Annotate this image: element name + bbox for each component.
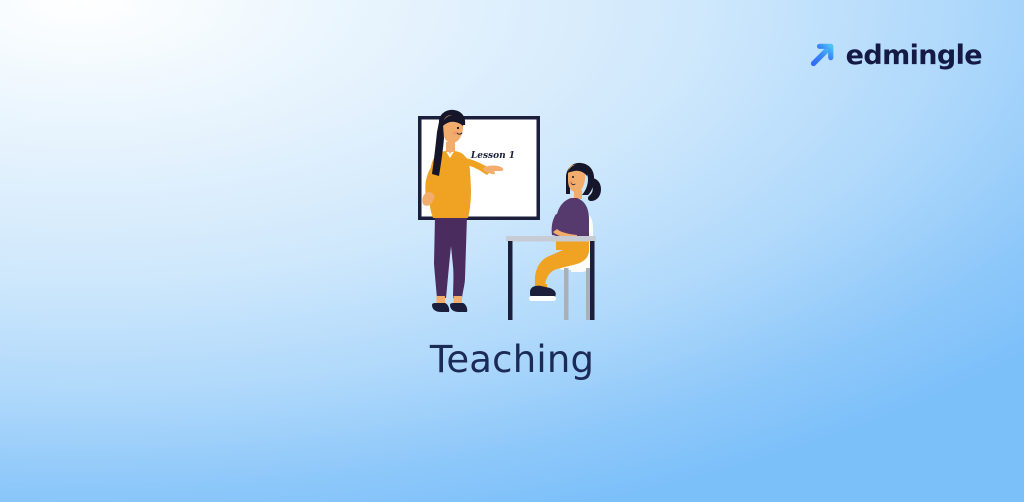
edmingle-logo[interactable]: edmingle [807, 40, 982, 70]
chair-leg-back [586, 268, 591, 320]
illustration-canvas: Lesson 1 [405, 108, 635, 333]
student-pants [535, 239, 589, 285]
student-shoe-sole [529, 296, 556, 301]
desk-leg-right [590, 241, 595, 320]
student-eye [572, 176, 574, 178]
teacher-shoe-right [450, 303, 467, 312]
teacher-eye [457, 127, 459, 129]
page-title: Teaching [0, 340, 1024, 381]
teacher-pants [434, 216, 467, 298]
teacher-shoe-left [432, 303, 449, 312]
teaching-banner: edmingle Lesson 1 [0, 0, 1024, 502]
student-blush [569, 181, 573, 184]
teacher-blush [453, 131, 458, 134]
desk-leg-left [508, 241, 513, 320]
chair-leg-front [564, 268, 569, 320]
arrow-up-right-icon [807, 40, 837, 70]
teaching-illustration: Lesson 1 [405, 108, 635, 333]
whiteboard-lesson-text: Lesson 1 [470, 151, 515, 161]
logo-wordmark: edmingle [846, 42, 982, 69]
desk-top [506, 236, 596, 242]
student-shoe [530, 286, 556, 297]
